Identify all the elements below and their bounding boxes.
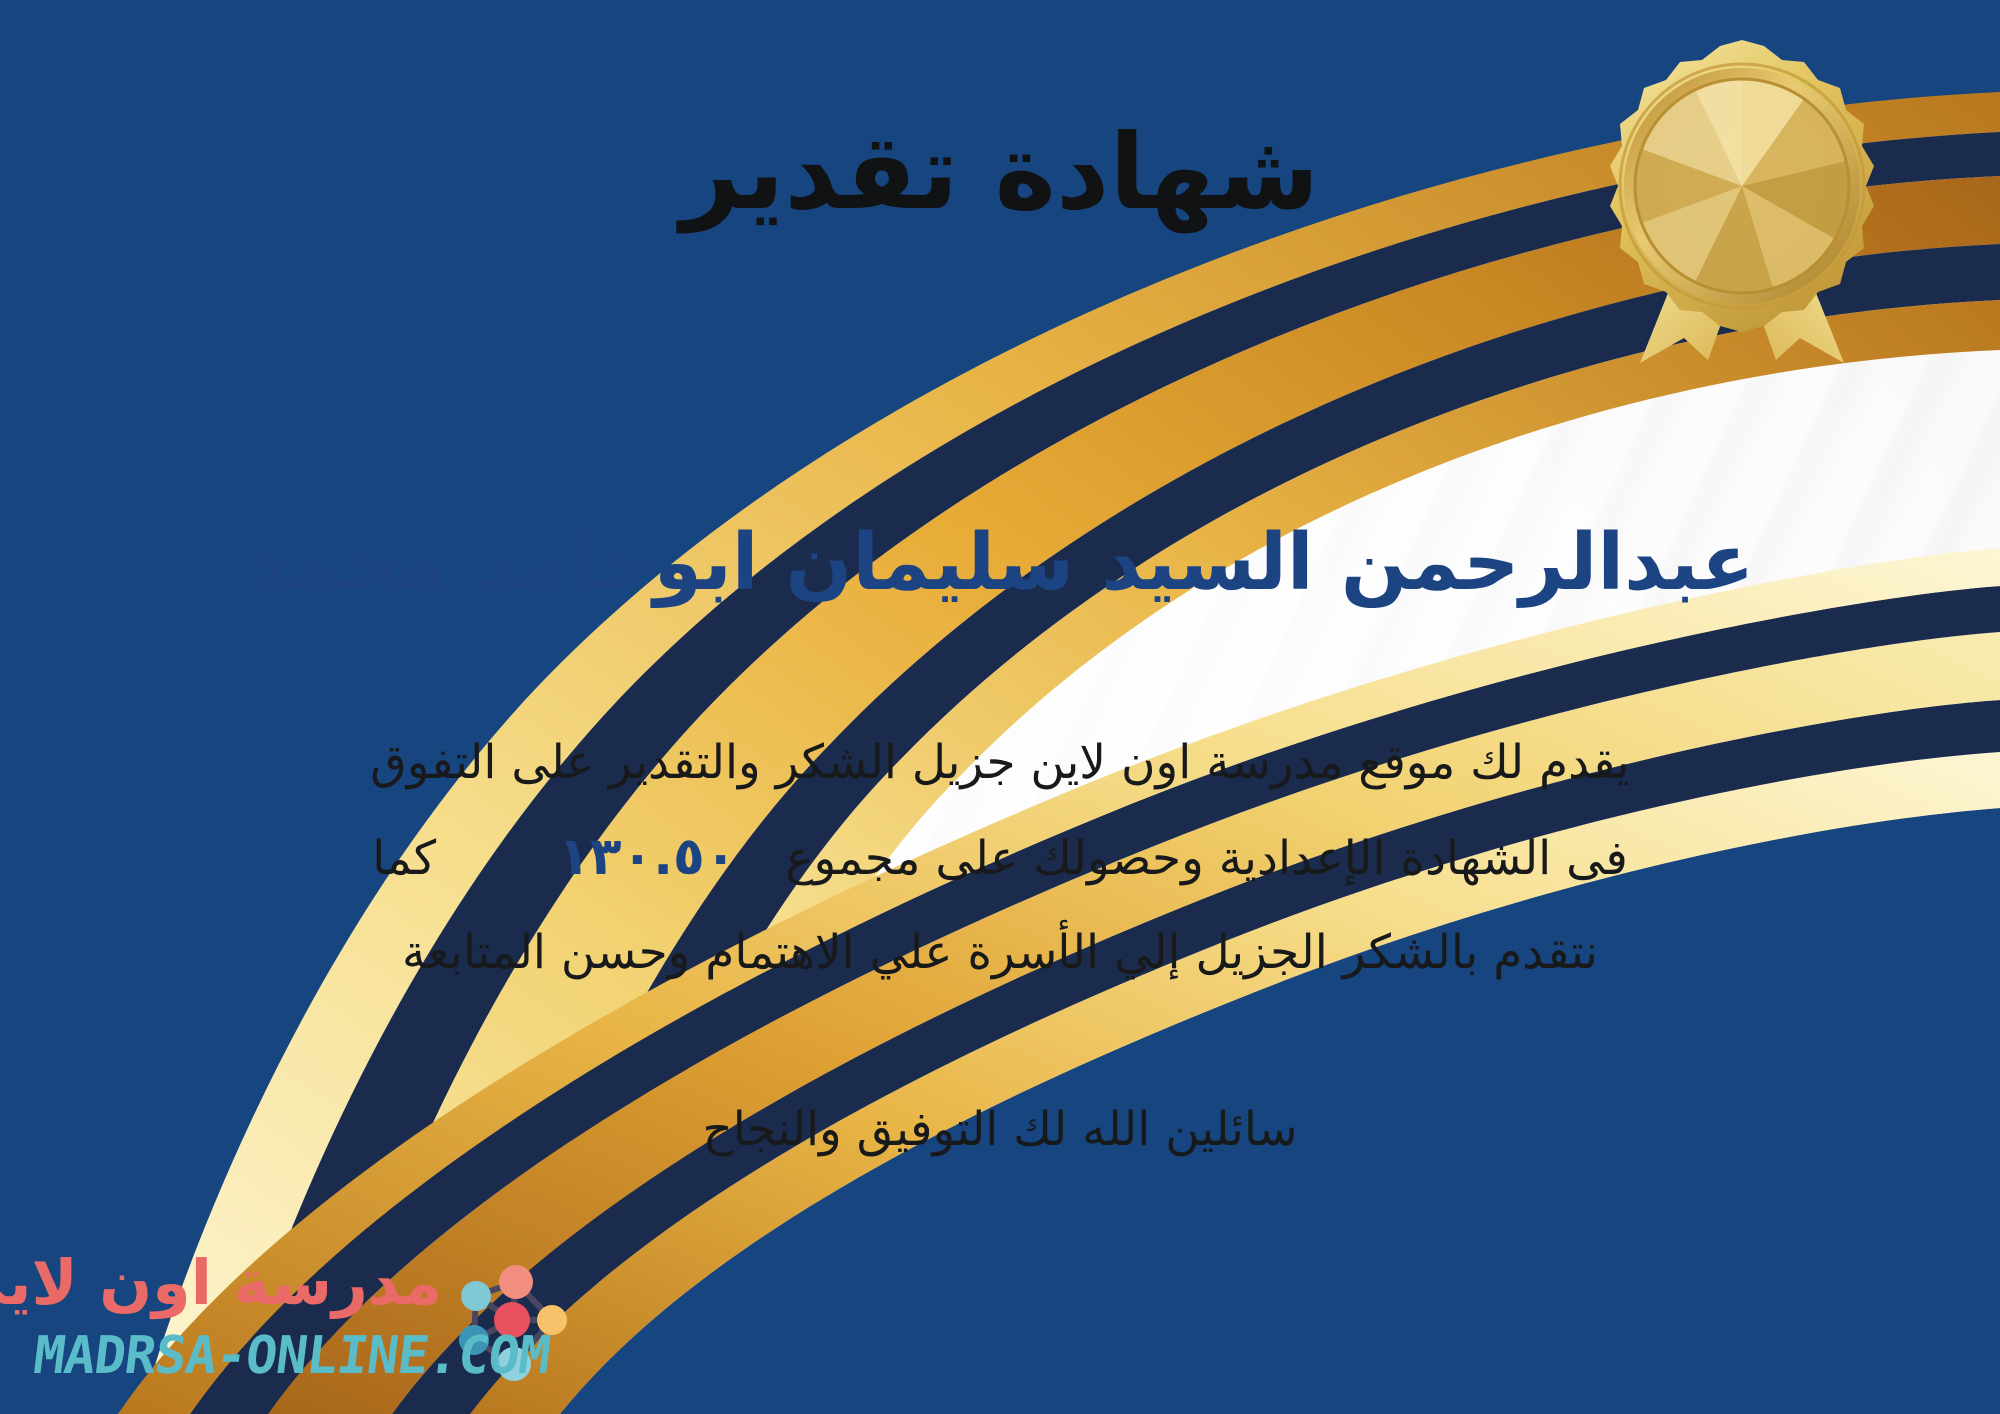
body-line-2-left: كما	[372, 831, 436, 886]
certificate-body: يقدم لك موقع مدرسة اون لاين جزيل الشكر و…	[110, 718, 1890, 998]
total-score: ١٣٠.٥٠	[524, 827, 770, 887]
body-line-2-right: فى الشهادة الإعدادية وحصولك على مجموع	[785, 831, 1627, 886]
body-line-1: يقدم لك موقع مدرسة اون لاين جزيل الشكر و…	[110, 718, 1890, 808]
body-line-3: نتقدم بالشكر الجزيل إلي الأسرة علي الاهت…	[110, 908, 1890, 998]
recipient-name: عبدالرحمن السيد سليمان ابوحامد محمد	[0, 520, 2000, 607]
certificate-content: شهادة تقدير عبدالرحمن السيد سليمان ابوحا…	[0, 0, 2000, 1414]
site-logo[interactable]: مدرسة اون لاين MADRSA-ONLINE.COM	[22, 1248, 582, 1398]
logo-website-url: MADRSA-ONLINE.COM	[30, 1326, 445, 1386]
certificate-title: شهادة تقدير	[0, 118, 2000, 227]
closing-line: سائلين الله لك التوفيق والنجاح	[0, 1102, 2000, 1157]
logo-arabic-name: مدرسة اون لاين	[52, 1252, 442, 1314]
body-line-2: فى الشهادة الإعدادية وحصولك على مجموع ١٣…	[110, 808, 1890, 908]
certificate-page: شهادة تقدير عبدالرحمن السيد سليمان ابوحا…	[0, 0, 2000, 1414]
